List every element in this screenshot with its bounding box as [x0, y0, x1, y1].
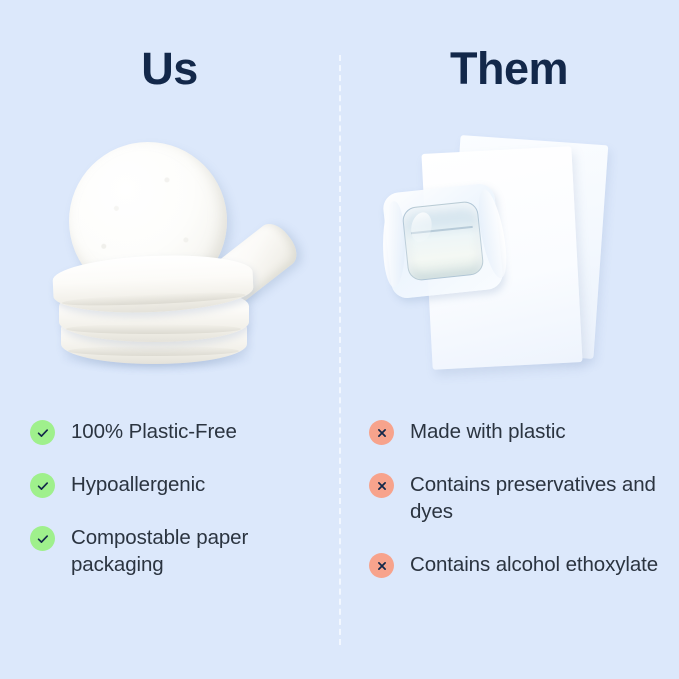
- x-icon: [369, 473, 394, 498]
- feature-list-us: 100% Plastic-Free Hypoallergenic Compost…: [30, 418, 330, 604]
- list-item: Made with plastic: [369, 418, 669, 445]
- list-item: 100% Plastic-Free: [30, 418, 330, 445]
- product-image-us: [0, 120, 339, 400]
- check-icon: [30, 473, 55, 498]
- x-icon: [369, 553, 394, 578]
- list-item: Contains preservatives and dyes: [369, 471, 669, 525]
- x-icon: [369, 420, 394, 445]
- pod-liquid: [401, 200, 484, 282]
- list-item-label: Made with plastic: [410, 418, 566, 445]
- product-image-them: [339, 120, 679, 400]
- list-item-label: Contains preservatives and dyes: [410, 471, 669, 525]
- feature-list-them: Made with plastic Contains preservatives…: [369, 418, 669, 604]
- tablet-flat-stack: [53, 256, 253, 366]
- plastic-pod-illustration: [379, 126, 639, 396]
- comparison-infographic: Us Them: [0, 0, 679, 679]
- check-icon: [30, 526, 55, 551]
- tablet-rim: [68, 346, 239, 356]
- list-item: Contains alcohol ethoxylate: [369, 551, 669, 578]
- column-heading-us: Us: [0, 46, 339, 91]
- list-item-label: Hypoallergenic: [71, 471, 205, 498]
- tablet-stack-illustration: [35, 120, 305, 400]
- check-icon: [30, 420, 55, 445]
- list-item-label: Contains alcohol ethoxylate: [410, 551, 658, 578]
- list-item: Compostable paper packaging: [30, 524, 330, 578]
- tablet-rim: [66, 324, 241, 334]
- list-item-label: 100% Plastic-Free: [71, 418, 237, 445]
- list-item-label: Compostable paper packaging: [71, 524, 330, 578]
- column-heading-them: Them: [339, 46, 679, 91]
- plastic-pod: [382, 182, 504, 299]
- list-item: Hypoallergenic: [30, 471, 330, 498]
